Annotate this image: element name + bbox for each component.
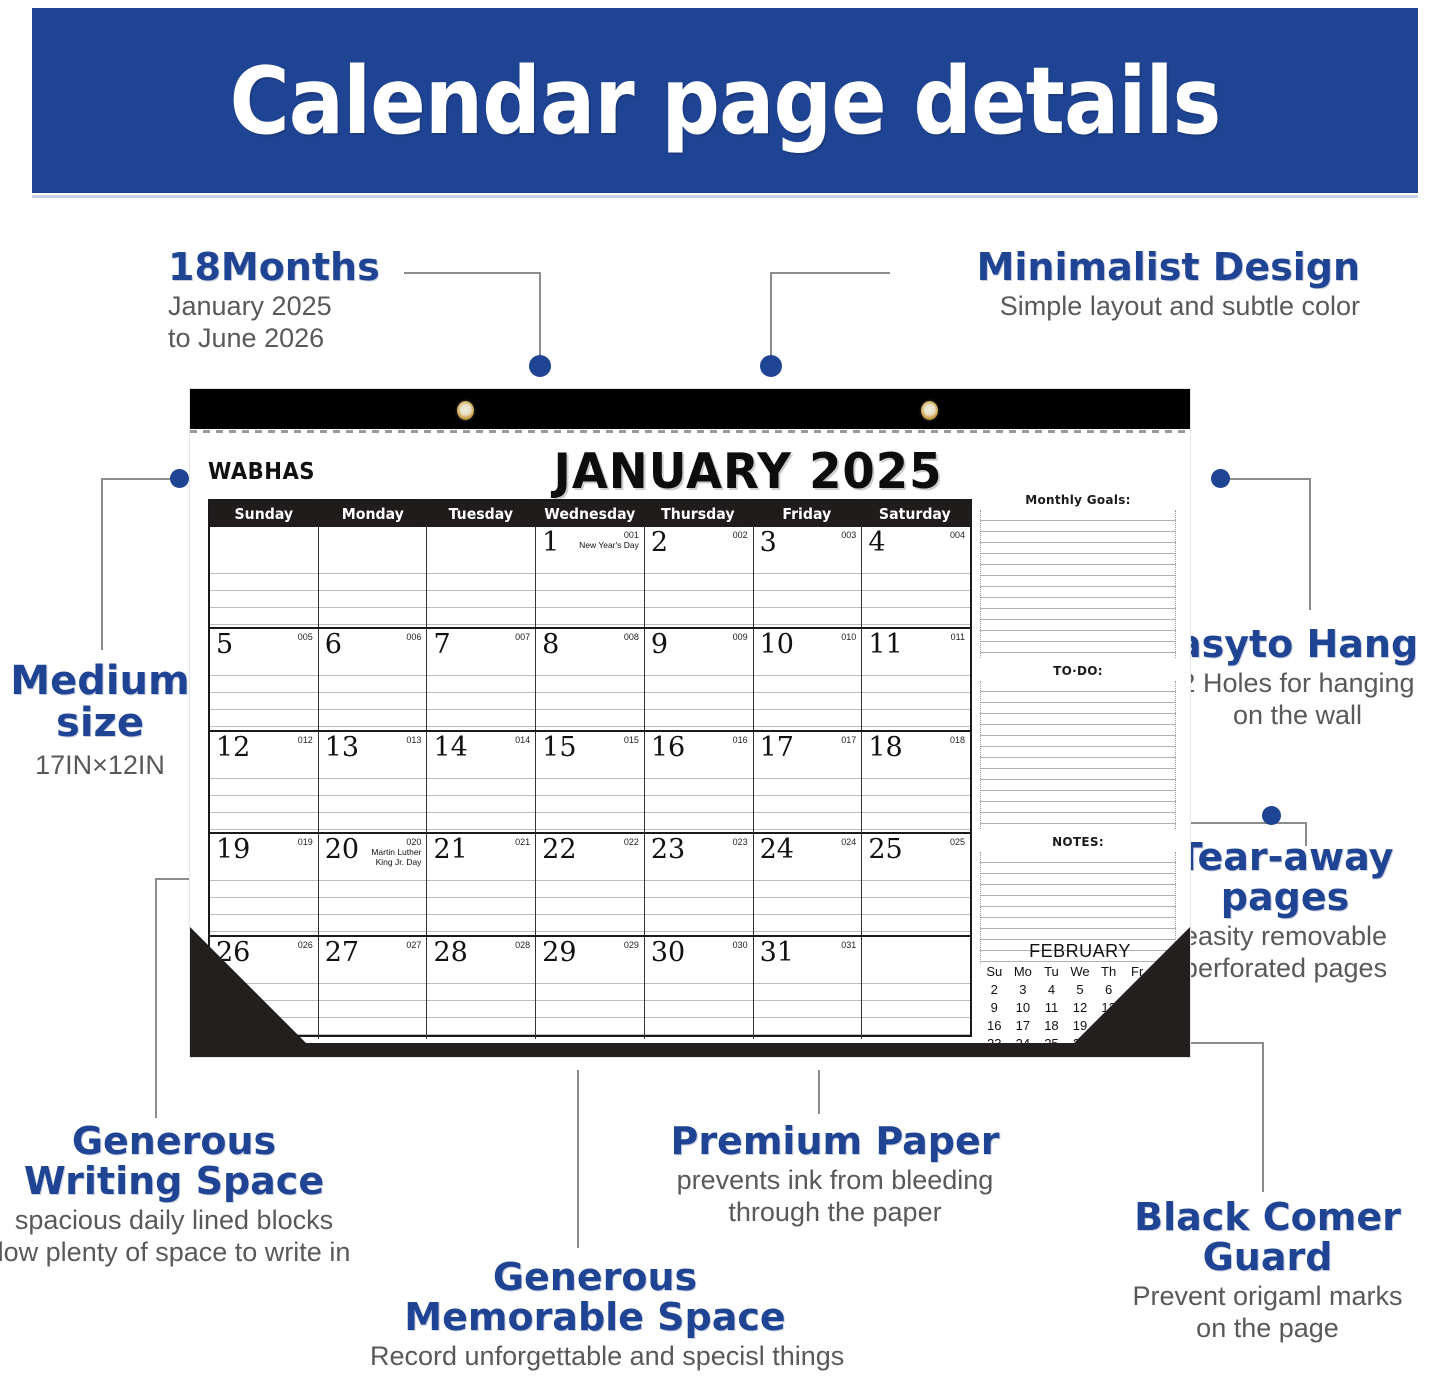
calendar-day-cell: 19019 bbox=[210, 834, 319, 934]
note-rule-line bbox=[981, 510, 1175, 521]
writing-rules bbox=[319, 865, 427, 934]
callout-easy-hang-sub: 2 Holes for hanging on the wall bbox=[1150, 668, 1445, 732]
calendar-empty-cell bbox=[210, 527, 319, 627]
day-of-year-number: 028 bbox=[515, 940, 530, 950]
note-rule-line bbox=[981, 576, 1175, 587]
callout-premium-paper: Premium Paper prevents ink from bleeding… bbox=[625, 1122, 1045, 1229]
calendar-day-cell: 3003 bbox=[754, 527, 863, 627]
day-number: 13 bbox=[325, 734, 359, 761]
perforation-line bbox=[190, 430, 1190, 433]
note-rule-line bbox=[981, 824, 1175, 829]
calendar-day-cell: 4004 bbox=[862, 527, 970, 627]
calendar-day-cell: 18018 bbox=[862, 732, 970, 832]
writing-rules bbox=[754, 968, 862, 1039]
day-of-year-number: 030 bbox=[733, 940, 748, 950]
day-number: 11 bbox=[868, 631, 902, 658]
monthly-goals-section: Monthly Goals: bbox=[980, 493, 1176, 658]
calendar-weeks: 1001New Year's Day2002300340045005600670… bbox=[210, 527, 970, 1035]
day-number: 27 bbox=[325, 939, 359, 966]
writing-rules bbox=[210, 660, 318, 729]
note-rule-line bbox=[981, 758, 1175, 769]
leader-line-minimalist-v bbox=[770, 272, 772, 360]
calendar-week-row: 12012130131401415015160161701718018 bbox=[210, 732, 970, 834]
writing-rules bbox=[862, 968, 970, 1039]
writing-rules bbox=[536, 865, 644, 934]
notes-label: NOTES: bbox=[980, 835, 1176, 849]
todo-label: TO·DO: bbox=[980, 664, 1176, 678]
callout-easy-hang: Easyto Hang 2 Holes for hanging on the w… bbox=[1150, 625, 1445, 732]
calendar-day-cell: 14014 bbox=[427, 732, 536, 832]
callout-memorable-space-sub: Record unforgettable and specisl things bbox=[370, 1341, 820, 1373]
leader-line-medium-v bbox=[101, 478, 103, 650]
mini-day-cell: 9 bbox=[980, 1000, 1009, 1015]
day-number: 16 bbox=[651, 734, 685, 761]
note-rule-line bbox=[981, 725, 1175, 736]
day-of-week-wednesday: Wednesday bbox=[539, 501, 641, 527]
day-number: 29 bbox=[542, 939, 576, 966]
writing-rules bbox=[427, 865, 535, 934]
writing-rules bbox=[754, 865, 862, 934]
calendar-day-cell: 11011 bbox=[862, 629, 970, 729]
day-of-year-number: 016 bbox=[733, 735, 748, 745]
day-number: 28 bbox=[433, 939, 467, 966]
leader-line-18months-v bbox=[539, 272, 541, 360]
day-of-year-number: 023 bbox=[733, 837, 748, 847]
calendar-day-cell: 28028 bbox=[427, 937, 536, 1039]
writing-rules bbox=[645, 660, 753, 729]
day-number: 23 bbox=[651, 836, 685, 863]
writing-rules bbox=[427, 968, 535, 1039]
day-number: 1 bbox=[542, 529, 559, 556]
day-of-year-number: 009 bbox=[733, 632, 748, 642]
corner-guard-bottom-right bbox=[1060, 927, 1190, 1057]
day-number: 14 bbox=[433, 734, 467, 761]
callout-minimalist-headline: Minimalist Design bbox=[830, 248, 1360, 288]
day-of-year-number: 001 bbox=[624, 530, 639, 540]
callout-easy-hang-headline: Easyto Hang bbox=[1150, 625, 1445, 665]
day-of-year-number: 008 bbox=[624, 632, 639, 642]
day-of-year-number: 025 bbox=[950, 837, 965, 847]
writing-rules bbox=[645, 865, 753, 934]
note-rule-line bbox=[981, 780, 1175, 791]
leader-line-premium-v bbox=[818, 1070, 820, 1114]
note-rule-line bbox=[981, 896, 1175, 907]
callout-minimalist-sub: Simple layout and subtle color bbox=[830, 291, 1360, 323]
leader-dot-notes bbox=[1262, 806, 1281, 825]
calendar-day-cell: 23023 bbox=[645, 834, 754, 934]
day-number: 18 bbox=[868, 734, 902, 761]
calendar-day-cell: 2002 bbox=[645, 527, 754, 627]
day-of-year-number: 004 bbox=[950, 530, 965, 540]
day-of-year-number: 027 bbox=[406, 940, 421, 950]
calendar-day-cell: 29029 bbox=[536, 937, 645, 1039]
writing-rules bbox=[754, 763, 862, 832]
day-of-year-number: 003 bbox=[841, 530, 856, 540]
day-of-year-number: 015 bbox=[624, 735, 639, 745]
calendar-grid: SundayMondayTuesdayWednesdayThursdayFrid… bbox=[208, 499, 972, 1037]
day-number: 22 bbox=[542, 836, 576, 863]
mini-day-header: Su bbox=[980, 964, 1009, 979]
writing-rules bbox=[319, 660, 427, 729]
note-rule-line bbox=[981, 769, 1175, 780]
writing-rules bbox=[427, 558, 535, 627]
note-rule-line bbox=[981, 736, 1175, 747]
callout-corner-guard-headline: Black Comer Guard bbox=[1090, 1198, 1445, 1278]
leader-dot-minimalist bbox=[760, 355, 782, 377]
day-of-year-number: 002 bbox=[733, 530, 748, 540]
day-of-year-number: 022 bbox=[624, 837, 639, 847]
calendar-day-cell: 30030 bbox=[645, 937, 754, 1039]
mini-day-cell: 10 bbox=[1009, 1000, 1038, 1015]
day-of-year-number: 013 bbox=[406, 735, 421, 745]
day-of-year-number: 010 bbox=[841, 632, 856, 642]
writing-rules bbox=[645, 763, 753, 832]
day-number: 21 bbox=[433, 836, 467, 863]
writing-rules bbox=[862, 763, 970, 832]
mini-day-cell: 3 bbox=[1009, 982, 1038, 997]
leader-line-hang-v bbox=[1309, 478, 1311, 610]
note-rule-line bbox=[981, 532, 1175, 543]
callout-premium-paper-sub: prevents ink from bleeding through the p… bbox=[625, 1165, 1045, 1229]
calendar-day-cell: 17017 bbox=[754, 732, 863, 832]
day-number: 10 bbox=[760, 631, 794, 658]
day-of-year-number: 029 bbox=[624, 940, 639, 950]
day-of-year-number: 018 bbox=[950, 735, 965, 745]
callout-medium-size-sub: 17IN×12IN bbox=[0, 750, 200, 782]
writing-rules bbox=[536, 558, 644, 627]
note-rule-line bbox=[981, 863, 1175, 874]
calendar-day-cell: 10010 bbox=[754, 629, 863, 729]
day-number: 7 bbox=[433, 631, 450, 658]
note-rule-line bbox=[981, 543, 1175, 554]
day-number: 4 bbox=[868, 529, 885, 556]
day-number: 12 bbox=[216, 734, 250, 761]
callout-premium-paper-headline: Premium Paper bbox=[625, 1122, 1045, 1162]
calendar-week-row: 500560067007800890091001011011 bbox=[210, 629, 970, 731]
day-number: 9 bbox=[651, 631, 668, 658]
mini-day-cell: 17 bbox=[1009, 1018, 1038, 1033]
callout-medium-size: Medium size 17IN×12IN bbox=[0, 660, 200, 782]
month-title: JANUARY 2025 bbox=[549, 443, 948, 500]
todo-section: TO·DO: bbox=[980, 664, 1176, 829]
calendar-day-cell: 15015 bbox=[536, 732, 645, 832]
note-rule-line bbox=[981, 565, 1175, 576]
calendar-week-row: 260262702728028290293003031031 bbox=[210, 937, 970, 1039]
note-rule-line bbox=[981, 620, 1175, 631]
calendar-page: WABHAS JANUARY 2025 SundayMondayTuesdayW… bbox=[190, 389, 1190, 1057]
day-of-week-saturday: Saturday bbox=[865, 501, 967, 527]
calendar-day-cell: 22022 bbox=[536, 834, 645, 934]
note-rule-line bbox=[981, 587, 1175, 598]
writing-rules bbox=[862, 865, 970, 934]
day-of-year-number: 017 bbox=[841, 735, 856, 745]
brand-logo: WABHAS bbox=[208, 459, 315, 485]
writing-rules bbox=[427, 660, 535, 729]
leader-dot-medium-size bbox=[170, 469, 189, 488]
writing-rules bbox=[754, 660, 862, 729]
day-of-year-number: 012 bbox=[298, 735, 313, 745]
calendar-day-cell: 31031 bbox=[754, 937, 863, 1039]
calendar-empty-cell bbox=[862, 937, 970, 1039]
leader-dot-18months bbox=[529, 355, 551, 377]
note-rule-line bbox=[981, 554, 1175, 565]
day-of-year-number: 020 bbox=[406, 837, 421, 847]
calendar-day-cell: 25025 bbox=[862, 834, 970, 934]
note-rule-line bbox=[981, 885, 1175, 896]
hanging-hole-right-icon bbox=[921, 401, 938, 420]
leader-line-guard-v bbox=[1262, 1042, 1264, 1192]
leader-line-18months-h bbox=[404, 272, 540, 274]
leader-dot-easy-hang bbox=[1211, 469, 1230, 488]
day-number: 31 bbox=[760, 939, 794, 966]
leader-line-writing-v bbox=[155, 878, 157, 1118]
mini-day-cell: 16 bbox=[980, 1018, 1009, 1033]
calendar-day-cell: 20020Martin Luther King Jr. Day bbox=[319, 834, 428, 934]
day-number: 30 bbox=[651, 939, 685, 966]
day-number: 24 bbox=[760, 836, 794, 863]
day-of-year-number: 007 bbox=[515, 632, 530, 642]
writing-rules bbox=[645, 968, 753, 1039]
calendar-day-cell: 1001New Year's Day bbox=[536, 527, 645, 627]
monthly-goals-label: Monthly Goals: bbox=[980, 493, 1176, 507]
callout-18months-sub: January 2025 to June 2026 bbox=[168, 291, 380, 355]
callout-memorable-space: Generous Memorable Space Record unforget… bbox=[370, 1258, 820, 1373]
callout-corner-guard-sub: Prevent origaml marks on the page bbox=[1090, 1281, 1445, 1345]
leader-line-tear-v bbox=[1305, 822, 1307, 846]
calendar-day-cell: 9009 bbox=[645, 629, 754, 729]
day-number: 19 bbox=[216, 836, 250, 863]
note-rule-line bbox=[981, 791, 1175, 802]
day-of-year-number: 006 bbox=[406, 632, 421, 642]
writing-rules bbox=[319, 763, 427, 832]
day-number: 17 bbox=[760, 734, 794, 761]
note-rule-line bbox=[981, 631, 1175, 642]
calendar-day-cell: 13013 bbox=[319, 732, 428, 832]
callout-writing-space-sub: spacious daily lined blocks low plenty o… bbox=[0, 1205, 354, 1269]
calendar-day-cell: 27027 bbox=[319, 937, 428, 1039]
calendar-day-cell: 8008 bbox=[536, 629, 645, 729]
header-banner: Calendar page details bbox=[32, 8, 1418, 193]
writing-rules bbox=[862, 558, 970, 627]
calendar-week-row: 1901920020Martin Luther King Jr. Day2102… bbox=[210, 834, 970, 936]
note-rule-line bbox=[981, 681, 1175, 692]
writing-rules bbox=[210, 558, 318, 627]
leader-line-hang-h bbox=[1228, 478, 1310, 480]
day-of-year-number: 031 bbox=[841, 940, 856, 950]
day-number: 8 bbox=[542, 631, 559, 658]
writing-rules bbox=[536, 763, 644, 832]
day-of-week-tuesday: Tuesday bbox=[430, 501, 532, 527]
callout-medium-size-headline: Medium size bbox=[0, 660, 200, 744]
writing-rules bbox=[210, 865, 318, 934]
day-of-week-monday: Monday bbox=[322, 501, 424, 527]
hanging-hole-left-icon bbox=[457, 401, 474, 420]
note-rule-line bbox=[981, 907, 1175, 918]
leader-line-medium-h bbox=[101, 478, 179, 480]
calendar-day-cell: 24024 bbox=[754, 834, 863, 934]
writing-rules bbox=[862, 660, 970, 729]
day-of-year-number: 014 bbox=[515, 735, 530, 745]
day-number: 25 bbox=[868, 836, 902, 863]
callout-writing-space-headline: Generous Writing Space bbox=[0, 1122, 354, 1202]
day-number: 6 bbox=[325, 631, 342, 658]
calendar-day-cell: 12012 bbox=[210, 732, 319, 832]
calendar-day-cell: 7007 bbox=[427, 629, 536, 729]
note-rule-line bbox=[981, 609, 1175, 620]
note-rule-line bbox=[981, 653, 1175, 658]
day-of-year-number: 021 bbox=[515, 837, 530, 847]
note-rule-line bbox=[981, 813, 1175, 824]
note-rule-line bbox=[981, 692, 1175, 703]
holiday-label: New Year's Day bbox=[567, 541, 639, 551]
note-rule-line bbox=[981, 642, 1175, 653]
writing-rules bbox=[427, 763, 535, 832]
calendar-week-row: 1001New Year's Day200230034004 bbox=[210, 527, 970, 629]
callout-memorable-space-headline: Generous Memorable Space bbox=[370, 1258, 820, 1338]
day-number: 15 bbox=[542, 734, 576, 761]
day-number: 3 bbox=[760, 529, 777, 556]
monthly-goals-lines bbox=[980, 510, 1176, 658]
callout-writing-space: Generous Writing Space spacious daily li… bbox=[0, 1122, 354, 1269]
day-number: 5 bbox=[216, 631, 233, 658]
calendar-bottom-bar bbox=[190, 1043, 1190, 1057]
callout-corner-guard: Black Comer Guard Prevent origaml marks … bbox=[1090, 1198, 1445, 1345]
day-of-week-friday: Friday bbox=[756, 501, 858, 527]
leader-line-minimalist-h bbox=[770, 272, 890, 274]
todo-lines bbox=[980, 681, 1176, 829]
day-of-year-number: 019 bbox=[298, 837, 313, 847]
note-rule-line bbox=[981, 852, 1175, 863]
note-rule-line bbox=[981, 521, 1175, 532]
note-rule-line bbox=[981, 747, 1175, 758]
writing-rules bbox=[754, 558, 862, 627]
writing-rules bbox=[210, 763, 318, 832]
callout-18months: 18Months January 2025 to June 2026 bbox=[168, 248, 380, 355]
page-title: Calendar page details bbox=[230, 47, 1221, 155]
note-rule-line bbox=[981, 598, 1175, 609]
writing-rules bbox=[319, 968, 427, 1039]
day-of-year-number: 005 bbox=[298, 632, 313, 642]
note-rule-line bbox=[981, 714, 1175, 725]
callout-18months-headline: 18Months bbox=[168, 248, 380, 288]
calendar-day-cell: 5005 bbox=[210, 629, 319, 729]
day-of-year-number: 024 bbox=[841, 837, 856, 847]
calendar-day-cell: 16016 bbox=[645, 732, 754, 832]
mini-day-header: Mo bbox=[1009, 964, 1038, 979]
day-of-week-header: SundayMondayTuesdayWednesdayThursdayFrid… bbox=[210, 501, 970, 527]
day-of-week-thursday: Thursday bbox=[648, 501, 750, 527]
calendar-header-row: WABHAS JANUARY 2025 bbox=[208, 447, 1172, 495]
calendar-day-cell: 6006 bbox=[319, 629, 428, 729]
writing-rules bbox=[319, 558, 427, 627]
calendar-empty-cell bbox=[319, 527, 428, 627]
callout-minimalist: Minimalist Design Simple layout and subt… bbox=[830, 248, 1360, 323]
leader-line-memorable-v bbox=[577, 1070, 579, 1248]
note-rule-line bbox=[981, 802, 1175, 813]
day-of-week-sunday: Sunday bbox=[213, 501, 315, 527]
note-rule-line bbox=[981, 703, 1175, 714]
writing-rules bbox=[536, 660, 644, 729]
day-of-year-number: 011 bbox=[951, 632, 965, 642]
note-rule-line bbox=[981, 874, 1175, 885]
calendar-day-cell: 21021 bbox=[427, 834, 536, 934]
day-number: 2 bbox=[651, 529, 668, 556]
corner-guard-bottom-left bbox=[190, 927, 320, 1057]
banner-underline bbox=[32, 195, 1418, 198]
calendar-top-binder bbox=[190, 389, 1190, 429]
writing-rules bbox=[536, 968, 644, 1039]
writing-rules bbox=[645, 558, 753, 627]
calendar-empty-cell bbox=[427, 527, 536, 627]
mini-day-cell: 2 bbox=[980, 982, 1009, 997]
